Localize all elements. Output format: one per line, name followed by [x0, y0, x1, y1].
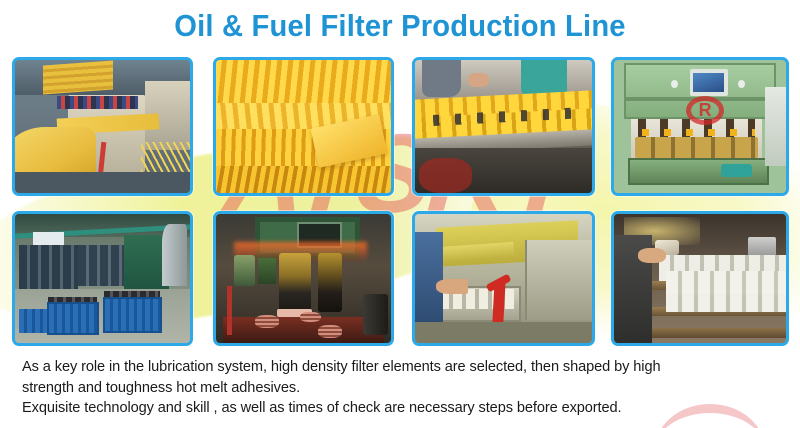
gallery-photo-3[interactable] — [412, 57, 595, 196]
gallery-photo-8[interactable] — [611, 211, 789, 346]
white-filter-cans-inspection-image — [614, 214, 786, 343]
gallery-photo-4[interactable] — [611, 57, 789, 196]
green-control-panel-machine-image — [614, 60, 786, 193]
gallery-photo-2[interactable] — [213, 57, 394, 196]
filter-element-assembly-conveyor-image — [415, 60, 592, 193]
description-line-2: strength and toughness hot melt adhesive… — [22, 378, 752, 399]
workshop-blue-crates-image — [15, 214, 190, 343]
gallery-photo-7[interactable] — [412, 211, 595, 346]
description-line-1: As a key role in the lubrication system,… — [22, 357, 752, 378]
pleated-filter-paper-stacks-image — [216, 60, 391, 193]
canister-crimping-press-image — [216, 214, 391, 343]
description-line-3: Exquisite technology and skill , as well… — [22, 398, 752, 419]
description-block: As a key role in the lubrication system,… — [22, 357, 752, 419]
gallery-photo-6[interactable] — [213, 211, 394, 346]
page-title: Oil & Fuel Filter Production Line — [24, 8, 776, 44]
filter-paper-pleating-machine-image — [15, 60, 190, 193]
yellow-machine-operator-image — [415, 214, 592, 343]
registered-trademark-icon — [686, 96, 724, 125]
gallery-photo-1[interactable] — [12, 57, 193, 196]
gallery-photo-5[interactable] — [12, 211, 193, 346]
product-info-banner: Oil & Fuel Filter Production Line — [0, 0, 800, 428]
